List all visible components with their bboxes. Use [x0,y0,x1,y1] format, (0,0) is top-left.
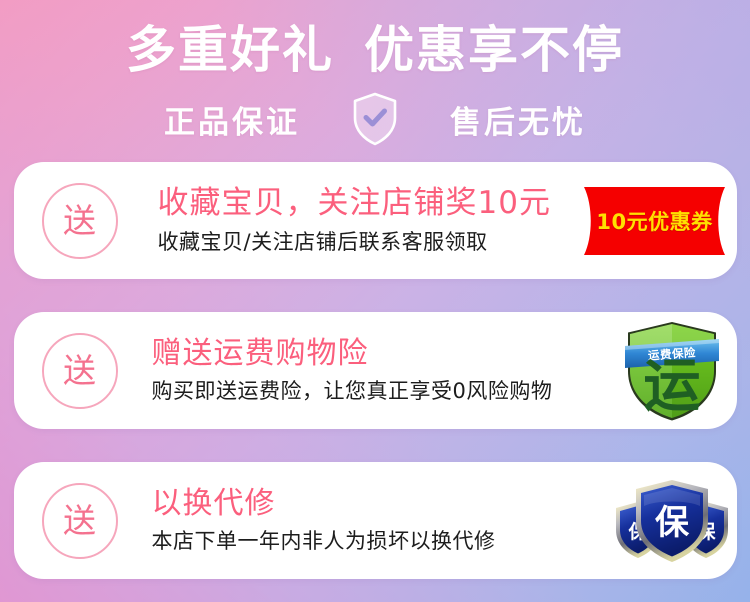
promo-banner: 多重好礼 优惠享不停 正品保证 售后无忧 送 收藏宝贝，关注店铺奖10元 收藏宝… [0,0,750,602]
send-badge: 送 [42,483,118,559]
card-art: 10元优惠券 [577,187,737,255]
card-text: 以换代修 本店下单一年内非人为损坏以换代修 [118,487,607,555]
coupon-flag-icon: 10元优惠券 [584,187,725,255]
card-text: 赠送运费购物险 购买即送运费险，让您真正享受0风险购物 [118,337,607,405]
headline-right: 优惠享不停 [364,22,624,78]
shield-check-icon [352,92,398,146]
benefit-card-list: 送 收藏宝贝，关注店铺奖10元 收藏宝贝/关注店铺后联系客服领取 10元优惠券 … [14,162,737,579]
send-badge: 送 [42,183,118,259]
shipping-insurance-shield-icon: 运费保险 运 [624,321,720,421]
card-text: 收藏宝贝，关注店铺奖10元 收藏宝贝/关注店铺后联系客服领取 [118,186,577,255]
warranty-char-center: 保 [655,503,690,543]
subline-right: 售后无忧 [450,97,586,142]
headline: 多重好礼 优惠享不停 [0,22,750,78]
card-subtitle: 本店下单一年内非人为损坏以换代修 [152,529,607,554]
benefit-card-shipping-insurance[interactable]: 送 赠送运费购物险 购买即送运费险，让您真正享受0风险购物 [14,312,737,429]
card-art: 运费保险 运 [607,321,737,421]
card-subtitle: 收藏宝贝/关注店铺后联系客服领取 [158,230,577,255]
card-title: 以换代修 [152,487,607,522]
card-art: 保 保 保 [607,478,737,564]
banner-header: 多重好礼 优惠享不停 正品保证 售后无忧 [0,0,750,146]
subline-left: 正品保证 [164,97,300,142]
shield-char: 运 [643,353,700,419]
send-badge: 送 [42,333,118,409]
card-title: 赠送运费购物险 [152,337,607,372]
card-subtitle: 购买即送运费险，让您真正享受0风险购物 [152,379,607,404]
coupon-label: 10元优惠券 [596,206,712,236]
warranty-shields-icon: 保 保 保 [616,478,728,564]
headline-left: 多重好礼 [126,22,334,78]
card-title: 收藏宝贝，关注店铺奖10元 [158,186,577,222]
subline: 正品保证 售后无忧 [0,92,750,146]
benefit-card-coupon[interactable]: 送 收藏宝贝，关注店铺奖10元 收藏宝贝/关注店铺后联系客服领取 10元优惠券 [14,162,737,279]
benefit-card-warranty[interactable]: 送 以换代修 本店下单一年内非人为损坏以换代修 [14,462,737,579]
